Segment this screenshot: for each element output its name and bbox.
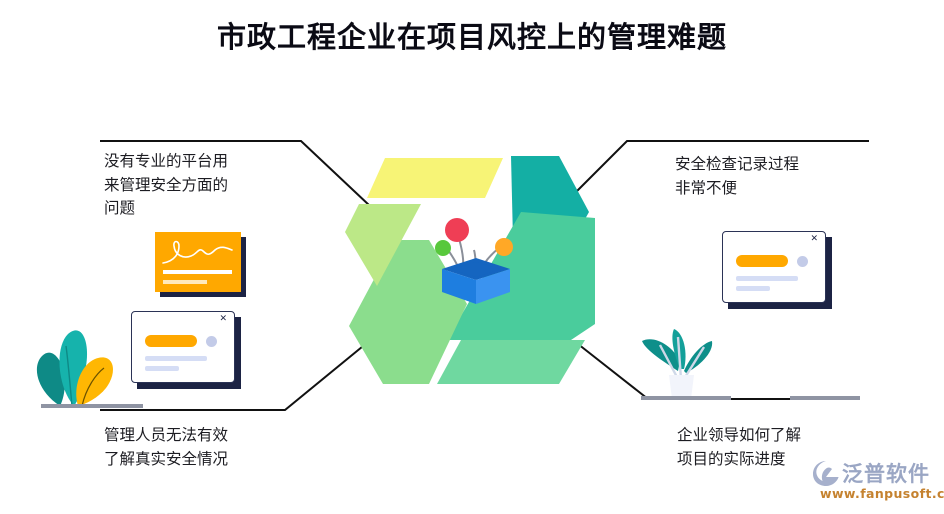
primary-button[interactable]: [736, 255, 788, 267]
avatar: [206, 336, 217, 347]
hex-segment-bottom: [437, 340, 585, 384]
signature-card-icon: [155, 232, 241, 292]
infographic-canvas: 市政工程企业在项目风控上的管理难题: [0, 0, 944, 514]
close-icon[interactable]: ✕: [810, 235, 818, 244]
placeholder-line-2: [145, 366, 179, 371]
placeholder-line-1: [145, 356, 207, 361]
brand-name: 泛普软件: [842, 458, 930, 488]
placeholder-line-2: [736, 286, 770, 291]
orange-balloon-icon: [495, 238, 513, 256]
label-top-left: 没有专业的平台用 来管理安全方面的 问题: [104, 150, 294, 221]
brand-url: www.fanpusoft.com: [820, 486, 944, 501]
dialog-card-right: ✕: [722, 231, 826, 303]
card-line-2: [163, 280, 207, 284]
avatar: [797, 256, 808, 267]
dialog-face: ✕: [722, 231, 826, 303]
open-box-with-balloons-icon: [424, 212, 528, 304]
placeholder-line-1: [736, 276, 798, 281]
potted-plant-illustration: [636, 323, 728, 403]
signature-squiggle-icon: [161, 237, 235, 267]
hex-segment-top: [367, 158, 503, 198]
green-balloon-icon: [435, 240, 451, 256]
ground-line-far: [790, 396, 860, 400]
close-icon[interactable]: ✕: [219, 315, 227, 324]
dialog-card-left: ✕: [131, 311, 235, 383]
red-balloon-icon: [445, 218, 469, 242]
leaves-plant-illustration: [28, 318, 136, 416]
primary-button[interactable]: [145, 335, 197, 347]
card-line-1: [163, 270, 232, 274]
label-top-right: 安全检查记录过程 非常不便: [675, 153, 875, 200]
watermark: 泛普软件 www.fanpusoft.com: [812, 458, 938, 506]
label-bottom-left: 管理人员无法有效 了解真实安全情况: [104, 424, 314, 471]
dialog-face: ✕: [131, 311, 235, 383]
brand-logo-icon: [812, 460, 840, 486]
ground-line-left: [41, 404, 143, 408]
ground-line-right: [641, 396, 731, 400]
page-title: 市政工程企业在项目风控上的管理难题: [0, 14, 944, 56]
